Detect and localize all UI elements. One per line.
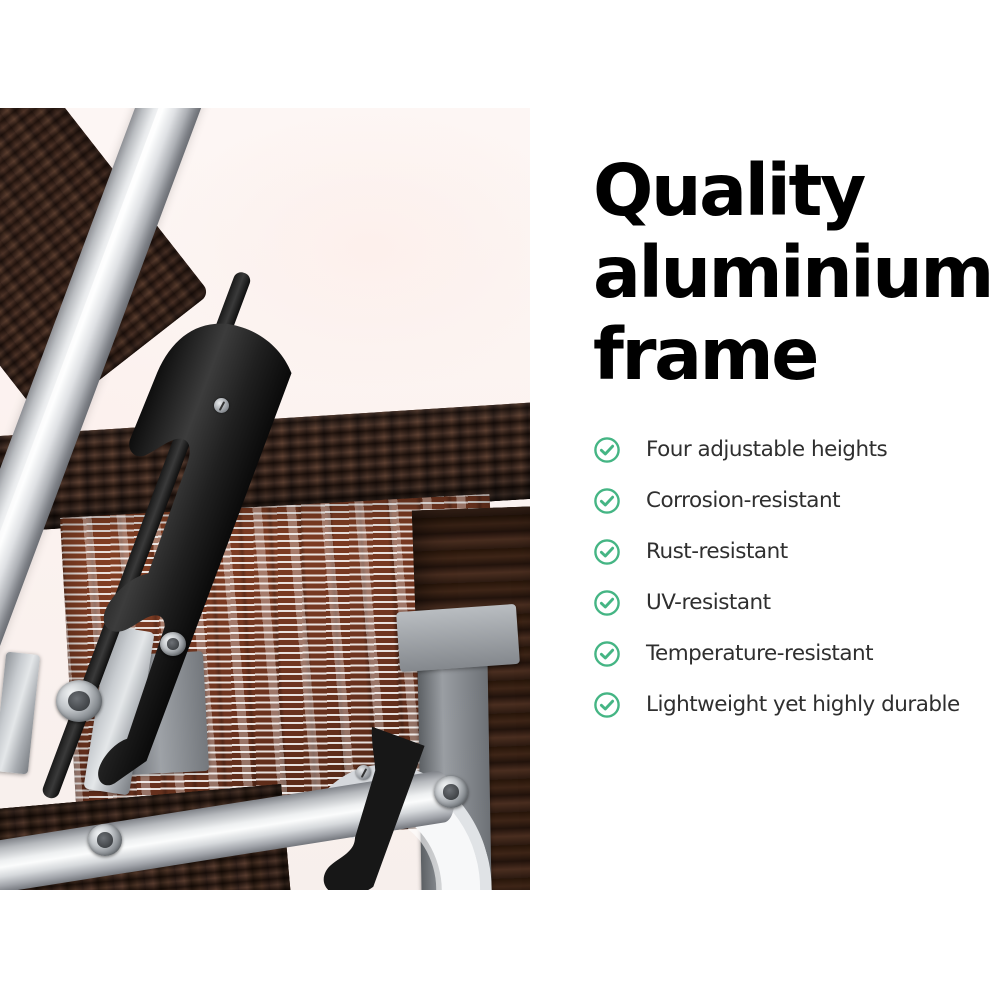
feature-label: UV-resistant <box>646 590 771 615</box>
check-circle-icon <box>593 487 621 515</box>
metal-bolt <box>88 824 122 856</box>
metal-bracket-upper-right <box>396 604 520 672</box>
text-column: Quality aluminium frame Four adjustable … <box>593 0 983 1000</box>
bracket-screw <box>214 398 229 413</box>
feature-item: Lightweight yet highly durable <box>593 679 983 730</box>
feature-label: Corrosion-resistant <box>646 488 840 513</box>
metal-bolt <box>434 776 468 808</box>
check-circle-icon <box>593 691 621 719</box>
feature-label: Temperature-resistant <box>646 641 873 666</box>
check-circle-icon <box>593 436 621 464</box>
bracket-screw <box>356 765 371 780</box>
feature-item: Rust-resistant <box>593 526 983 577</box>
feature-item: Temperature-resistant <box>593 628 983 679</box>
check-circle-icon <box>593 538 621 566</box>
feature-label: Lightweight yet highly durable <box>646 692 960 717</box>
feature-label: Four adjustable heights <box>646 437 887 462</box>
feature-list: Four adjustable heights Corrosion-resist… <box>593 424 983 730</box>
check-circle-icon <box>593 589 621 617</box>
feature-label: Rust-resistant <box>646 539 788 564</box>
page-title: Quality aluminium frame <box>593 150 993 396</box>
feature-item: UV-resistant <box>593 577 983 628</box>
check-circle-icon <box>593 640 621 668</box>
product-feature-banner: Quality aluminium frame Four adjustable … <box>0 0 1000 1000</box>
headline-line-1: Quality <box>593 150 993 232</box>
feature-item: Four adjustable heights <box>593 424 983 475</box>
feature-item: Corrosion-resistant <box>593 475 983 526</box>
metal-bolt <box>56 680 102 722</box>
metal-bolt <box>160 632 186 656</box>
product-photo <box>0 108 530 890</box>
headline-line-2: aluminium <box>593 232 993 314</box>
product-photo-scene <box>0 108 530 890</box>
headline-line-3: frame <box>593 314 993 396</box>
